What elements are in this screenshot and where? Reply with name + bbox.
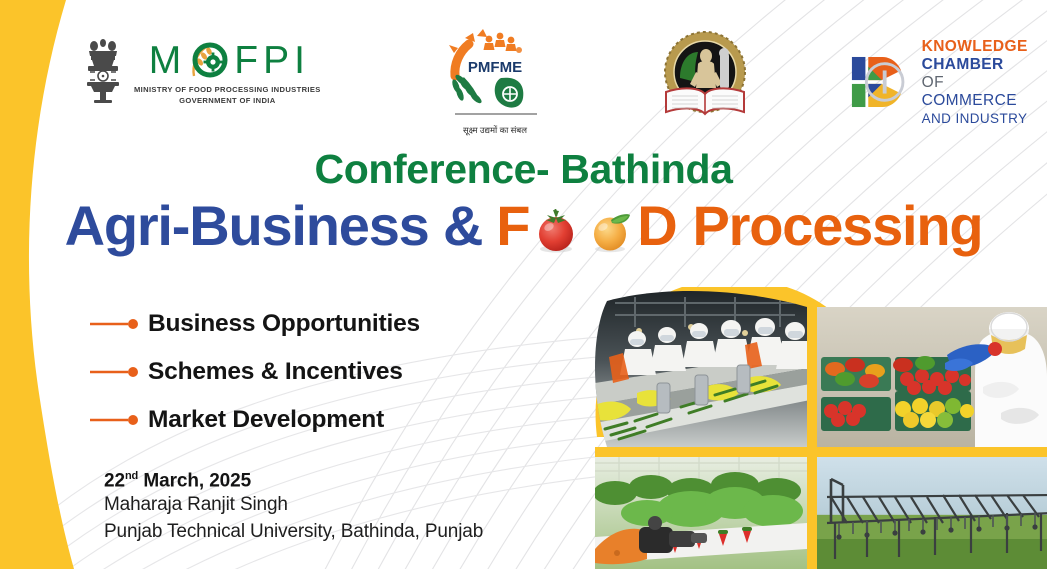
- headline-block: Conference- Bathinda Agri-Business & F: [0, 148, 1047, 256]
- venue-line-1: Maharaja Ranjit Singh: [104, 492, 483, 518]
- bullet-label: Market Development: [148, 406, 384, 434]
- logo-mofpi: M: [80, 36, 321, 108]
- kcci-line-chamber-of: CHAMBER OF: [922, 56, 1030, 92]
- bullet-dash-dot-icon: [88, 365, 142, 379]
- kcci-line-and-industry: AND INDUSTRY: [922, 111, 1030, 127]
- bullet-list: Business Opportunities Schemes & Incenti…: [88, 300, 420, 444]
- kcci-chamber: CHAMBER: [922, 56, 1004, 73]
- collage-photo-produce-grading: [817, 307, 1047, 447]
- bullet-label: Business Opportunities: [148, 310, 420, 338]
- bullet-item-business-opportunities: Business Opportunities: [88, 300, 420, 348]
- mofpi-subtitle-line1: MINISTRY OF FOOD PROCESSING INDUSTRIES: [134, 84, 321, 95]
- main-title-agri-business: Agri-Business &: [65, 197, 483, 256]
- logo-pmfme: PMFME सूक्ष्म उद्यमों का संबल: [425, 26, 565, 136]
- mofpi-wheat-gear-icon: [186, 38, 230, 82]
- conference-poster: M: [0, 0, 1047, 569]
- bullet-item-market-development: Market Development: [88, 396, 420, 444]
- kcci-line-knowledge: KNOWLEDGE: [922, 38, 1030, 56]
- event-date-day: 22: [104, 470, 125, 491]
- bullet-label: Schemes & Incentives: [148, 358, 403, 386]
- mofpi-subtitle-line2: GOVERNMENT OF INDIA: [134, 95, 321, 106]
- logo-strip: M: [70, 22, 1030, 132]
- main-title-letter-f: F: [496, 197, 529, 256]
- main-title-processing: Processing: [693, 197, 983, 256]
- bullet-dash-dot-icon: [88, 413, 142, 427]
- logo-kcci: KNOWLEDGE CHAMBER OF COMMERCE AND INDUST…: [850, 38, 1030, 126]
- pmfme-acronym: PMFME: [468, 59, 522, 76]
- collage-photo-irrigation-pivot: [817, 457, 1047, 569]
- mofpi-letter-p: P: [263, 41, 290, 80]
- bullet-item-schemes-incentives: Schemes & Incentives: [88, 348, 420, 396]
- bullet-dash-dot-icon: [88, 317, 142, 331]
- photo-collage: [595, 287, 1047, 569]
- mrsptu-crest-icon: [650, 26, 760, 126]
- pmfme-tagline: सूक्ष्म उद्यमों का संबल: [425, 125, 565, 136]
- event-details: 22nd March, 2025 Maharaja Ranjit Singh P…: [104, 470, 483, 545]
- conference-subtitle: Conference- Bathinda: [0, 148, 1047, 191]
- collage-photo-greenhouse-strawberries: [595, 457, 807, 569]
- mofpi-letter-i: I: [294, 41, 306, 80]
- event-date-rest: March, 2025: [143, 470, 251, 491]
- mofpi-letter-f: F: [234, 41, 259, 80]
- mofpi-letter-m: M: [149, 41, 183, 80]
- venue-line-2: Punjab Technical University, Bathinda, P…: [104, 519, 483, 545]
- kcci-k-mark-icon: [850, 51, 912, 113]
- logo-mrsptu: [645, 26, 765, 131]
- kcci-of: OF: [922, 74, 944, 91]
- mango-icon: [584, 204, 636, 256]
- india-emblem-icon: [80, 36, 126, 108]
- event-date: 22nd March, 2025: [104, 470, 483, 492]
- kcci-line-commerce: COMMERCE: [922, 92, 1030, 110]
- event-date-suffix: nd: [125, 470, 138, 482]
- mofpi-subtitle: MINISTRY OF FOOD PROCESSING INDUSTRIES G…: [134, 84, 321, 106]
- tomato-icon: [530, 204, 582, 256]
- collage-photo-processing-line: [595, 287, 816, 452]
- pmfme-mark-icon: PMFME: [425, 26, 565, 122]
- main-title: Agri-Business & F: [0, 197, 1047, 256]
- main-title-letter-d: D: [637, 197, 676, 256]
